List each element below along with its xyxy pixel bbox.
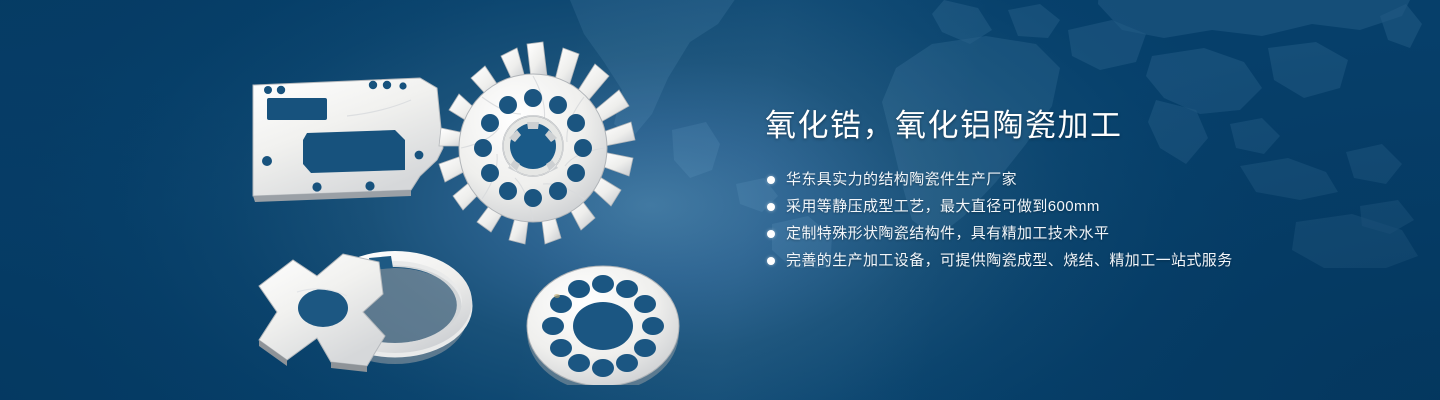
hero-banner: 氧化锆，氧化铝陶瓷加工 华东具实力的结构陶瓷件生产厂家 采用等静压成型工艺，最大… bbox=[0, 0, 1440, 400]
banner-copy: 氧化锆，氧化铝陶瓷加工 华东具实力的结构陶瓷件生产厂家 采用等静压成型工艺，最大… bbox=[765, 106, 1285, 270]
list-item-label: 完善的生产加工设备，可提供陶瓷成型、烧结、精加工一站式服务 bbox=[786, 252, 1233, 269]
feature-list: 华东具实力的结构陶瓷件生产厂家 采用等静压成型工艺，最大直径可做到600mm 定… bbox=[765, 170, 1285, 270]
list-item: 定制特殊形状陶瓷结构件，具有精加工技术水平 bbox=[765, 224, 1285, 243]
list-item: 采用等静压成型工艺，最大直径可做到600mm bbox=[765, 197, 1285, 216]
bullet-dot-icon bbox=[767, 257, 775, 265]
ceramic-perforated-ring-shape bbox=[527, 266, 679, 385]
list-item-label: 华东具实力的结构陶瓷件生产厂家 bbox=[786, 171, 1017, 188]
list-item: 完善的生产加工设备，可提供陶瓷成型、烧结、精加工一站式服务 bbox=[765, 251, 1285, 270]
bullet-dot-icon bbox=[767, 230, 775, 238]
ceramic-flat-plate-shape bbox=[253, 78, 443, 202]
bullet-dot-icon bbox=[767, 203, 775, 211]
bullet-dot-icon bbox=[767, 176, 775, 184]
list-item: 华东具实力的结构陶瓷件生产厂家 bbox=[765, 170, 1285, 189]
list-item-label: 定制特殊形状陶瓷结构件，具有精加工技术水平 bbox=[786, 225, 1109, 242]
ceramic-impeller-shape bbox=[439, 42, 635, 244]
list-item-label: 采用等静压成型工艺，最大直径可做到600mm bbox=[786, 198, 1100, 215]
page-title: 氧化锆，氧化铝陶瓷加工 bbox=[765, 106, 1285, 146]
ceramic-products-photo bbox=[215, 30, 735, 385]
